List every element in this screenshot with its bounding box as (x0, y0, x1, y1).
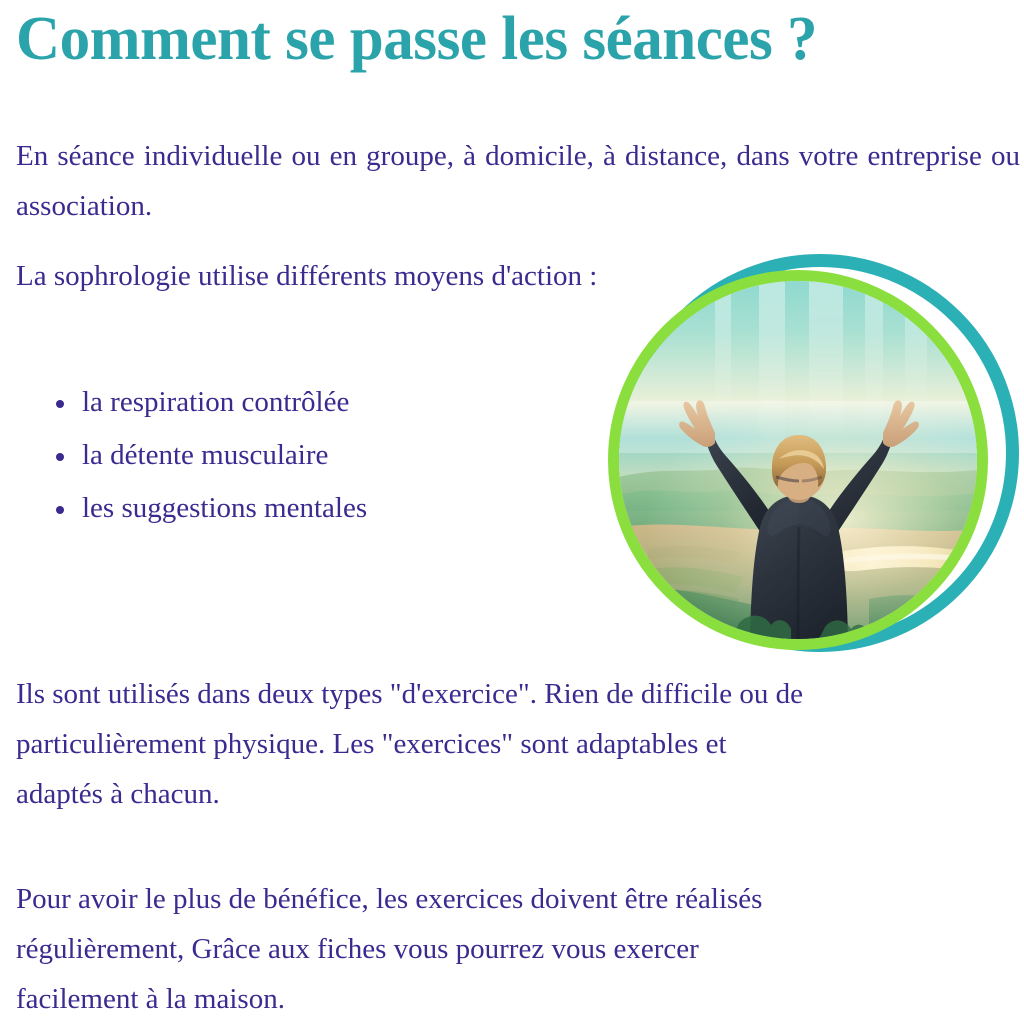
page-title: Comment se passe les séances ? (16, 2, 1001, 76)
text-line: Ils sont utilisés dans deux types "d'exe… (16, 669, 1022, 719)
person-arms-raised-landscape-illustration (619, 281, 977, 639)
list-item: la détente musculaire (16, 429, 596, 482)
moyens-list: la respiration contrôlée la détente musc… (16, 376, 596, 535)
hero-photo (619, 281, 977, 639)
circular-photo-badge (600, 248, 1024, 648)
text-line: adaptés à chacun. (16, 769, 1022, 819)
text-line: régulièrement, Grâce aux fiches vous pou… (16, 924, 1022, 974)
exercice-paragraph: Ils sont utilisés dans deux types "d'exe… (16, 669, 1022, 819)
article-page: Comment se passe les séances ? En séance… (0, 0, 1024, 1024)
list-item: les suggestions mentales (16, 482, 596, 535)
benefice-paragraph: Pour avoir le plus de bénéfice, les exer… (16, 874, 1022, 1024)
list-item: la respiration contrôlée (16, 376, 596, 429)
text-line: particulièrement physique. Les "exercice… (16, 719, 1022, 769)
text-line: Pour avoir le plus de bénéfice, les exer… (16, 874, 1022, 924)
text-line: facilement à la maison. (16, 974, 1022, 1024)
